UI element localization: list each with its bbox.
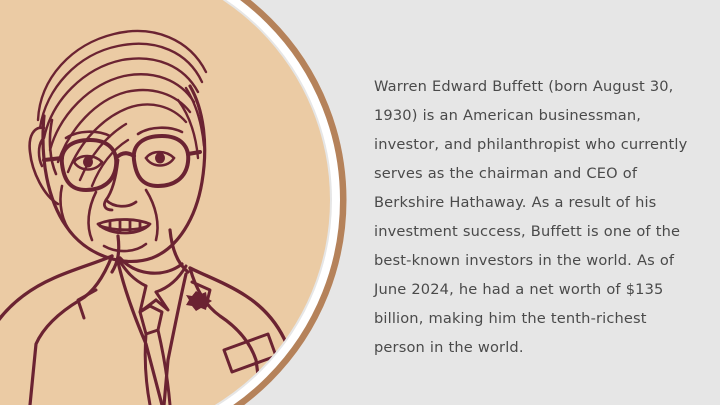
portrait-panel <box>0 0 360 405</box>
text-panel: Warren Edward Buffett (born August 30, 1… <box>374 72 694 362</box>
portrait-illustration <box>0 0 360 405</box>
portrait-circle-fill <box>0 0 330 405</box>
biography-paragraph: Warren Edward Buffett (born August 30, 1… <box>374 72 694 362</box>
slide-root: Warren Edward Buffett (born August 30, 1… <box>0 0 720 405</box>
